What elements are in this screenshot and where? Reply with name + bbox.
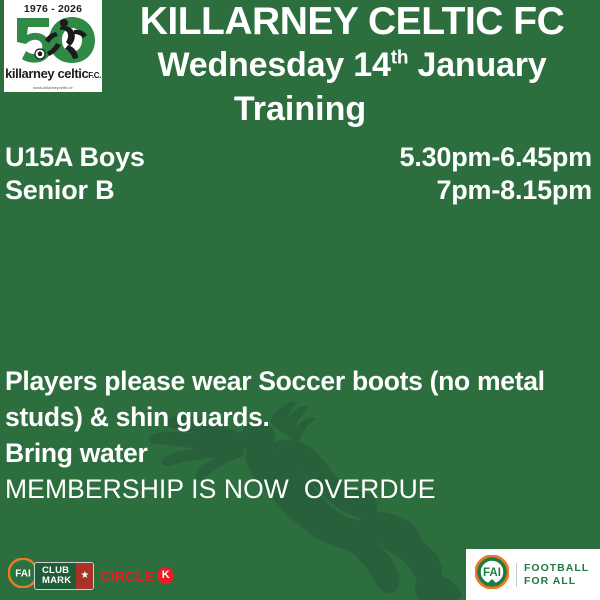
club-mark-plaque: CLUB MARK ★ [34,562,94,590]
notice-membership-overdue: MEMBERSHIP IS NOW OVERDUE [5,471,591,507]
circle-k-wordmark: CIRCLE [100,568,154,584]
page-title: KILLARNEY CELTIC FC [104,0,600,44]
svg-text:FAI: FAI [15,569,31,580]
logo-fifty-numeral-icon [4,12,102,65]
notice-text-block: Players please wear Soccer boots (no met… [5,363,591,507]
logo-club-suffix: F.C. [88,71,101,80]
logo-club-name: killarney celticF.C. [4,66,102,81]
svg-text:FAI: FAI [483,567,501,579]
divider [516,563,517,587]
ffa-line2: FOR ALL [524,575,576,587]
fai-roundel-icon: FAI [475,555,509,594]
football-for-all-label: FOOTBALL FOR ALL [524,562,589,587]
schedule-time: 5.30pm-6.45pm [400,141,593,174]
event-date-ordinal: th [391,48,409,69]
schedule-time: 7pm-8.15pm [436,174,592,207]
training-schedule: U15A Boys 5.30pm-6.45pm Senior B 7pm-8.1… [0,141,600,207]
logo-website-url: www.killarneyceltic.ie [4,85,102,90]
event-date: Wednesday 14th January [104,44,600,86]
ffa-line1: FOOTBALL [524,562,589,574]
notice-equipment: Players please wear Soccer boots (no met… [5,363,591,435]
fai-club-mark-badge: FAI CLUB MARK ★ [8,558,94,593]
circle-k-mark-icon: K [157,567,174,584]
table-row: U15A Boys 5.30pm-6.45pm [0,141,600,174]
logo-club-name-main: killarney celtic [5,66,88,81]
event-date-suffix: January [408,46,546,84]
table-row: Senior B 7pm-8.15pm [0,174,600,207]
notice-bring-water: Bring water [5,435,591,471]
club-mark-line2: MARK [42,575,71,586]
event-date-prefix: Wednesday 14 [157,46,390,84]
schedule-team: Senior B [5,174,114,207]
sponsor-strip-left: FAI CLUB MARK ★ CIRCLE K [8,558,174,593]
circle-k-logo: CIRCLE K [100,567,174,584]
club-mark-label: CLUB MARK [35,566,76,585]
fai-football-for-all-badge: FAI FOOTBALL FOR ALL [466,549,600,600]
club-logo: 1976 - 2026 [4,0,102,92]
training-announcement-poster: 1976 - 2026 [0,0,600,600]
session-type-heading: Training [0,88,600,130]
star-icon: ★ [76,563,93,589]
schedule-team: U15A Boys [5,141,145,174]
